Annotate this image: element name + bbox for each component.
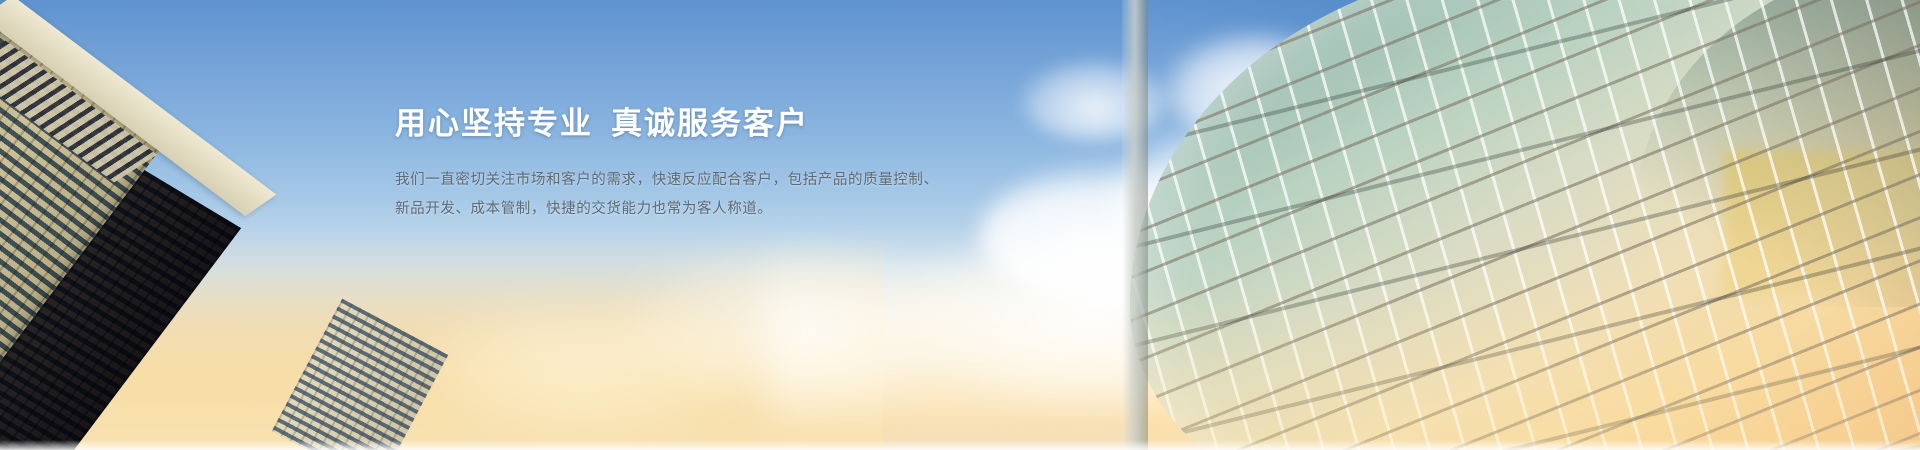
glass-facade bbox=[1130, 0, 1920, 450]
facade-curved-edge bbox=[1122, 0, 1148, 450]
facade-sunset-glow bbox=[1130, 285, 1920, 450]
bottom-fade bbox=[0, 440, 1920, 450]
banner-description: 我们一直密切关注市场和客户的需求，快速反应配合客户，包括产品的质量控制、 新品开… bbox=[395, 166, 1035, 225]
banner-headline: 用心坚持专业真诚服务客户 bbox=[395, 105, 1035, 144]
description-line-2: 新品开发、成本管制，快捷的交货能力也常为客人称道。 bbox=[395, 195, 1035, 225]
headline-part-2: 真诚服务客户 bbox=[611, 106, 809, 141]
headline-part-1: 用心坚持专业 bbox=[395, 106, 593, 141]
curved-glass-tower bbox=[1070, 0, 1920, 450]
cloud-shape bbox=[420, 300, 750, 430]
hero-banner: 用心坚持专业真诚服务客户 我们一直密切关注市场和客户的需求，快速反应配合客户，包… bbox=[0, 0, 1920, 450]
banner-text-block: 用心坚持专业真诚服务客户 我们一直密切关注市场和客户的需求，快速反应配合客户，包… bbox=[395, 105, 1035, 225]
description-line-1: 我们一直密切关注市场和客户的需求，快速反应配合客户，包括产品的质量控制、 bbox=[395, 166, 1035, 196]
